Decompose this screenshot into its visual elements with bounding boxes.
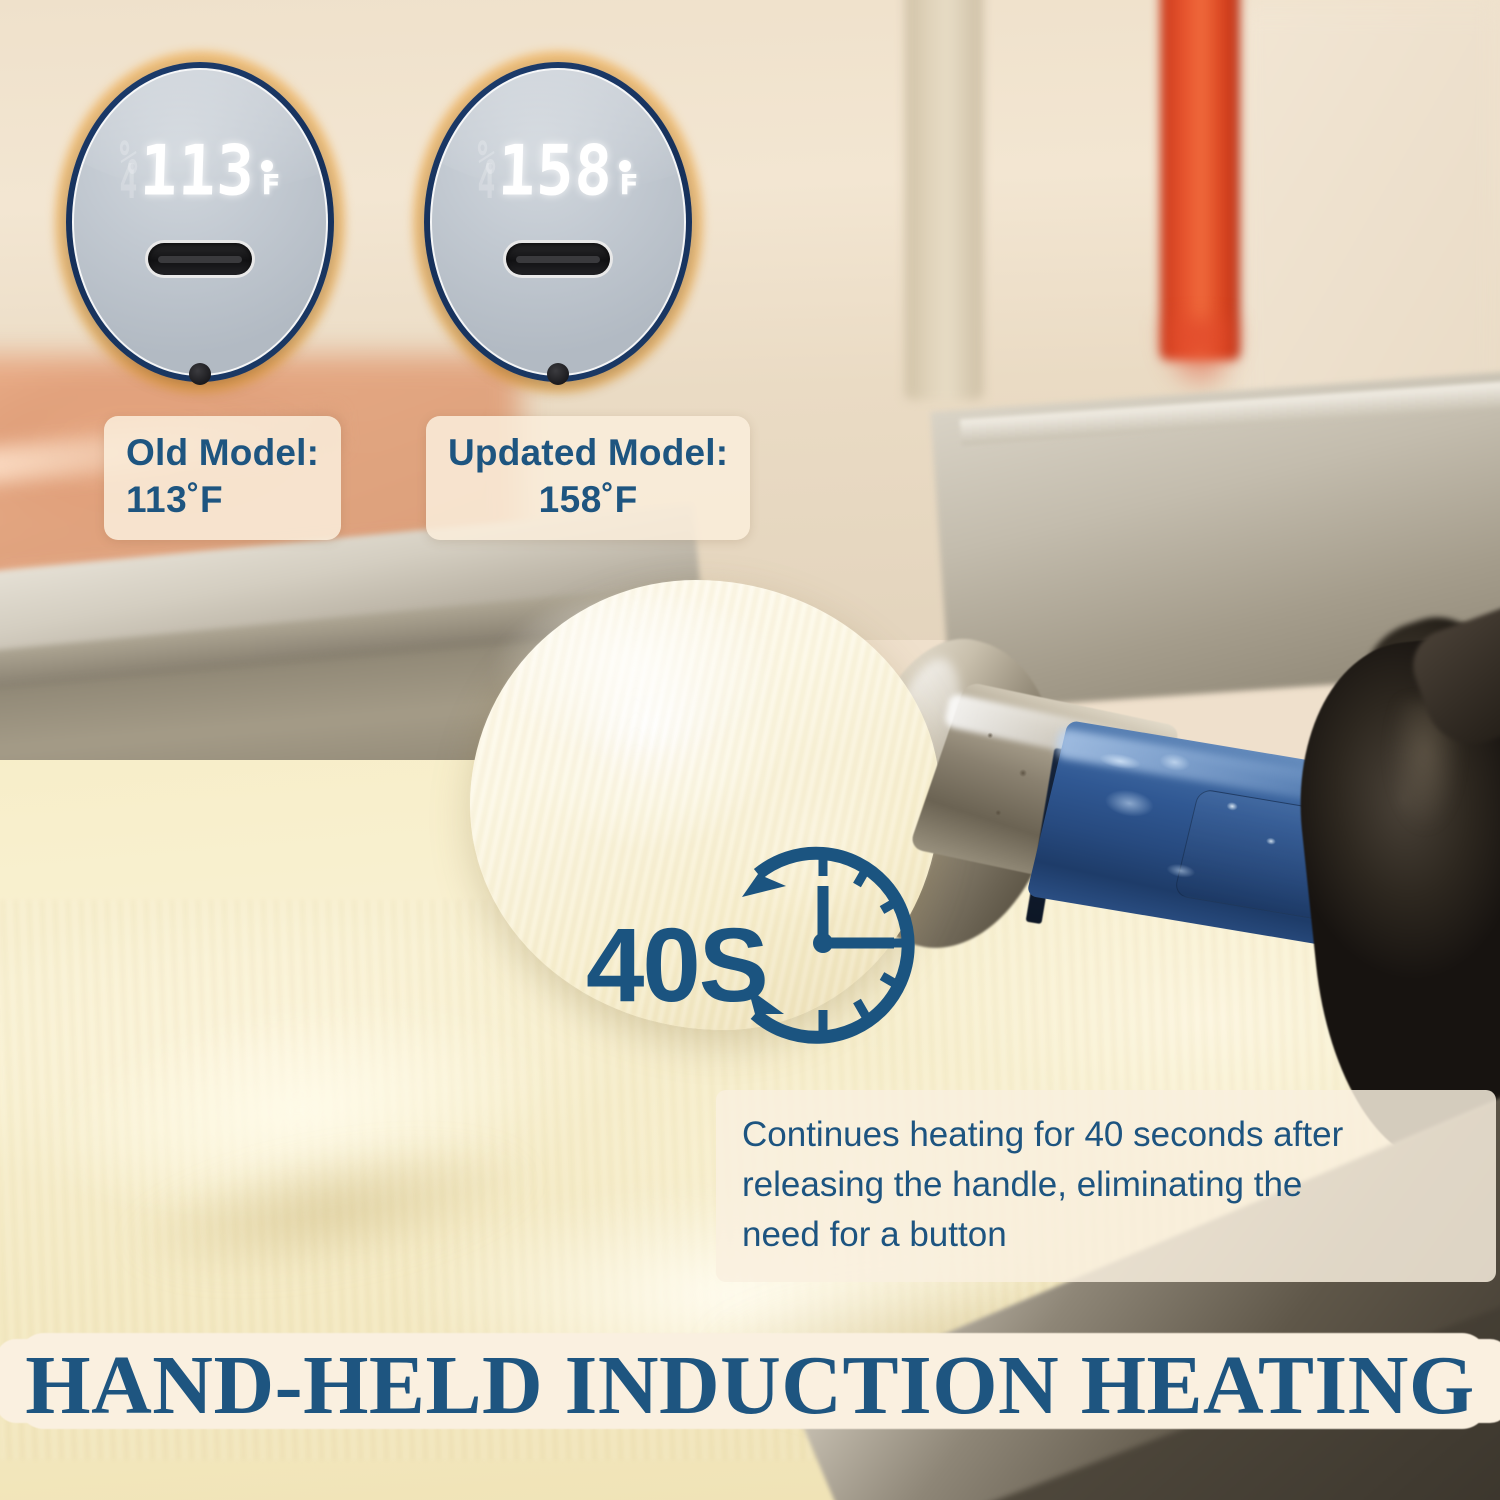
usb-c-port-icon <box>503 240 613 278</box>
temperature-readout: %4 113 F <box>74 134 326 207</box>
updated-model-value: 158˚F <box>448 476 728 524</box>
feature-description-panel: Continues heating for 40 seconds after r… <box>716 1090 1496 1282</box>
temperature-unit: F <box>261 160 280 196</box>
headline-text: HAND-HELD INDUCTION HEATING <box>0 1325 1500 1445</box>
temperature-digits: 113 <box>139 130 257 212</box>
old-model-label-box: Old Model: 113˚F <box>104 416 341 540</box>
updated-model-title: Updated Model: <box>448 430 728 476</box>
ghost-segments-icon: %4 <box>119 147 134 195</box>
old-model-title: Old Model: <box>126 430 319 476</box>
updated-model-label-box: Updated Model: 158˚F <box>426 416 750 540</box>
device-screen-face: %4 158 F <box>430 68 686 376</box>
description-line-1: Continues heating for 40 seconds after <box>742 1110 1470 1160</box>
old-model-value: 113˚F <box>126 476 319 524</box>
device-bottom-sensor-dot <box>189 363 211 385</box>
duration-text: 40S <box>586 906 767 1026</box>
device-bottom-sensor-dot <box>547 363 569 385</box>
device-display-old-model: %4 113 F <box>66 62 334 382</box>
background-haze <box>1230 0 1500 430</box>
fahrenheit-letter: F <box>261 174 280 196</box>
temperature-unit: F <box>619 160 638 196</box>
background-tan-post <box>905 0 983 400</box>
description-line-3: need for a button <box>742 1210 1470 1260</box>
duration-badge: 40S <box>578 818 948 1068</box>
background-red-post-glow <box>1158 320 1242 390</box>
device-display-updated-model: %4 158 F <box>424 62 692 382</box>
device-screen-face: %4 113 F <box>72 68 328 376</box>
temperature-digits: 158 <box>497 130 615 212</box>
usb-c-port-icon <box>145 240 255 278</box>
headline-banner: HAND-HELD INDUCTION HEATING <box>0 1325 1500 1445</box>
description-line-2: releasing the handle, eliminating the <box>742 1160 1470 1210</box>
fahrenheit-letter: F <box>619 174 638 196</box>
ice-cream-scoop-highlight <box>486 596 786 766</box>
background-red-post <box>1160 0 1240 360</box>
temperature-readout: %4 158 F <box>432 134 684 207</box>
ghost-segments-icon: %4 <box>477 147 492 195</box>
